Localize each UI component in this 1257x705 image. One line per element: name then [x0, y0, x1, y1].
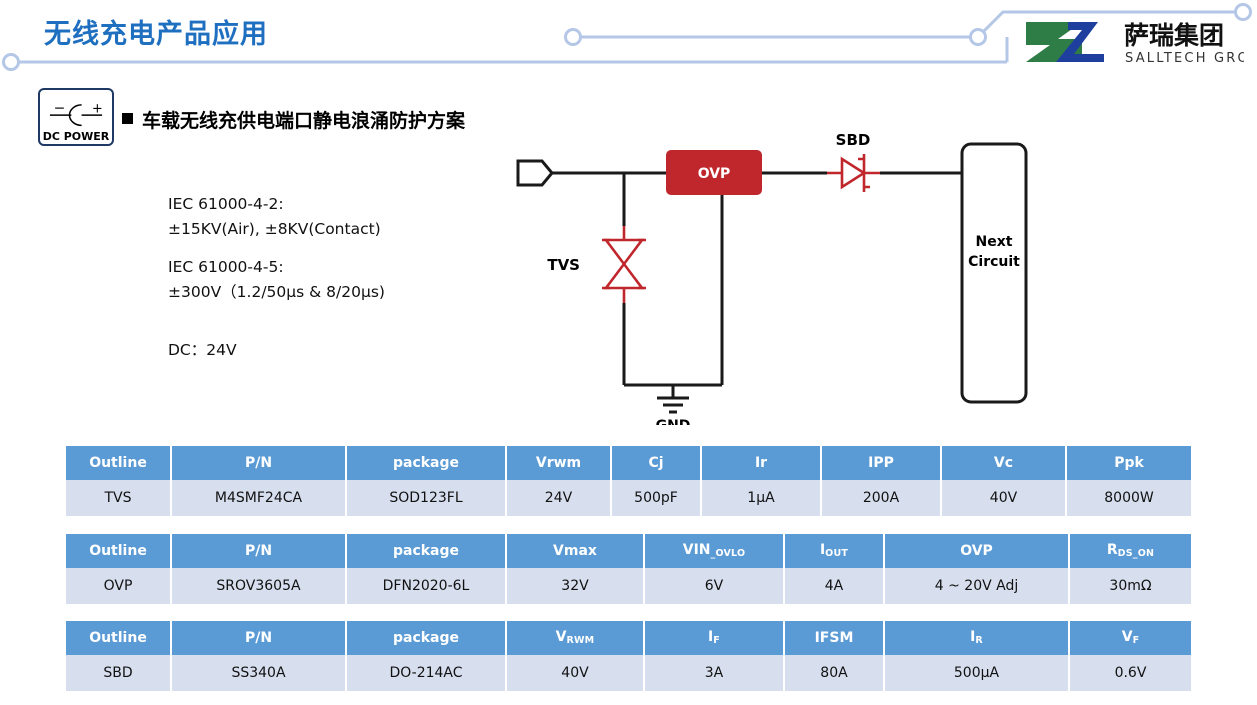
- table-row: TVS M4SMF24CA SOD123FL 24V 500pF 1μA 200…: [66, 480, 1191, 516]
- col-header-outline: Outline: [66, 534, 171, 568]
- cell-package: SOD123FL: [346, 480, 506, 516]
- tvs-symbol: [602, 226, 646, 303]
- cell-ovp: 4 ~ 20V Adj: [884, 568, 1069, 604]
- logo-mark: [1026, 22, 1104, 62]
- col-header-ppk: Ppk: [1066, 446, 1191, 480]
- sbd-table: Outline P/N package VRWM IF IFSM IR VF S…: [66, 621, 1191, 691]
- node-mid: [566, 30, 581, 45]
- spec-block-esd: IEC 61000-4-2: ±15KV(Air), ±8KV(Contact): [168, 192, 381, 242]
- table-header-row: Outline P/N package VRWM IF IFSM IR VF: [66, 621, 1191, 655]
- svg-text:−: −: [54, 100, 66, 116]
- gnd-symbol: [657, 398, 689, 412]
- col-header-vf: VF: [1069, 621, 1191, 655]
- spec-block-dc: DC：24V: [168, 338, 237, 363]
- cell-package: DO-214AC: [346, 655, 506, 691]
- col-header-pn: P/N: [171, 446, 346, 480]
- col-header-ipp: IPP: [821, 446, 941, 480]
- spec-line: ±300V（1.2/50μs & 8/20μs): [168, 280, 385, 305]
- next-circuit-block: [962, 144, 1026, 402]
- tvs-label: TVS: [547, 256, 580, 274]
- slide-root: 无线充电产品应用 萨瑞集团 SALLTECH GROUP − + DC POWE…: [0, 0, 1257, 705]
- circuit-diagram: TVS OVP SBD GND Next Circuit: [490, 130, 1050, 425]
- input-port-icon: [518, 161, 552, 185]
- cell-ir: 1μA: [701, 480, 821, 516]
- spec-line: ±15KV(Air), ±8KV(Contact): [168, 217, 381, 242]
- page-title: 无线充电产品应用: [44, 12, 268, 51]
- cell-pn: SROV3605A: [171, 568, 346, 604]
- table-row: OVP SROV3605A DFN2020-6L 32V 6V 4A 4 ~ 2…: [66, 568, 1191, 604]
- spec-line: DC：24V: [168, 338, 237, 363]
- table-header-row: Outline P/N package Vmax VIN_OVLO IOUT O…: [66, 534, 1191, 568]
- col-header-vrwm: Vrwm: [506, 446, 611, 480]
- col-header-vrwm: VRWM: [506, 621, 644, 655]
- svg-text:+: +: [92, 101, 103, 116]
- col-header-package: package: [346, 534, 506, 568]
- col-header-outline: Outline: [66, 446, 171, 480]
- cell-pn: SS340A: [171, 655, 346, 691]
- cell-iout: 4A: [784, 568, 884, 604]
- col-header-package: package: [346, 446, 506, 480]
- col-header-if: IF: [644, 621, 784, 655]
- cell-vf: 0.6V: [1069, 655, 1191, 691]
- sbd-label: SBD: [836, 131, 871, 149]
- cell-ifsm: 80A: [784, 655, 884, 691]
- cell-outline: OVP: [66, 568, 171, 604]
- logo-en: SALLTECH GROUP: [1125, 51, 1244, 66]
- cell-pn: M4SMF24CA: [171, 480, 346, 516]
- cell-vrwm: 24V: [506, 480, 611, 516]
- cell-package: DFN2020-6L: [346, 568, 506, 604]
- col-header-pn: P/N: [171, 621, 346, 655]
- gnd-label: GND: [656, 418, 691, 425]
- cell-ir: 500μA: [884, 655, 1069, 691]
- col-header-vc: Vc: [941, 446, 1066, 480]
- cell-vin-ovlo: 6V: [644, 568, 784, 604]
- cell-outline: SBD: [66, 655, 171, 691]
- table-row: SBD SS340A DO-214AC 40V 3A 80A 500μA 0.6…: [66, 655, 1191, 691]
- col-header-ovp: OVP: [884, 534, 1069, 568]
- sbd-symbol: [827, 154, 880, 192]
- col-header-vmax: Vmax: [506, 534, 644, 568]
- col-header-cj: Cj: [611, 446, 701, 480]
- cell-ipp: 200A: [821, 480, 941, 516]
- node-right: [971, 30, 986, 45]
- table-header-row: Outline P/N package Vrwm Cj Ir IPP Vc Pp…: [66, 446, 1191, 480]
- next-circuit-label-1: Next: [976, 234, 1013, 250]
- cell-outline: TVS: [66, 480, 171, 516]
- col-header-outline: Outline: [66, 621, 171, 655]
- next-circuit-label-2: Circuit: [968, 254, 1020, 270]
- col-header-vin-ovlo: VIN_OVLO: [644, 534, 784, 568]
- cell-vc: 40V: [941, 480, 1066, 516]
- cell-rds-on: 30mΩ: [1069, 568, 1191, 604]
- dc-power-icon: − + DC POWER: [38, 88, 114, 146]
- bullet-square-icon: [122, 113, 133, 124]
- col-header-rds-on: RDS_ON: [1069, 534, 1191, 568]
- spec-line: IEC 61000-4-2:: [168, 192, 381, 217]
- brand-logo: 萨瑞集团 SALLTECH GROUP: [1012, 12, 1244, 72]
- cell-vrwm: 40V: [506, 655, 644, 691]
- spec-block-surge: IEC 61000-4-5: ±300V（1.2/50μs & 8/20μs): [168, 255, 385, 305]
- cell-cj: 500pF: [611, 480, 701, 516]
- cell-vmax: 32V: [506, 568, 644, 604]
- col-header-ir: Ir: [701, 446, 821, 480]
- logo-cn: 萨瑞集团: [1124, 21, 1224, 50]
- section-heading: 车载无线充供电端口静电浪涌防护方案: [142, 106, 465, 133]
- cell-ppk: 8000W: [1066, 480, 1191, 516]
- col-header-ifsm: IFSM: [784, 621, 884, 655]
- ovp-table: Outline P/N package Vmax VIN_OVLO IOUT O…: [66, 534, 1191, 604]
- tvs-table: Outline P/N package Vrwm Cj Ir IPP Vc Pp…: [66, 446, 1191, 516]
- col-header-package: package: [346, 621, 506, 655]
- dc-power-label: DC POWER: [40, 130, 112, 143]
- col-header-pn: P/N: [171, 534, 346, 568]
- col-header-ir: IR: [884, 621, 1069, 655]
- col-header-iout: IOUT: [784, 534, 884, 568]
- spec-line: IEC 61000-4-5:: [168, 255, 385, 280]
- node-left: [4, 55, 19, 70]
- ovp-label: OVP: [698, 166, 731, 182]
- cell-if: 3A: [644, 655, 784, 691]
